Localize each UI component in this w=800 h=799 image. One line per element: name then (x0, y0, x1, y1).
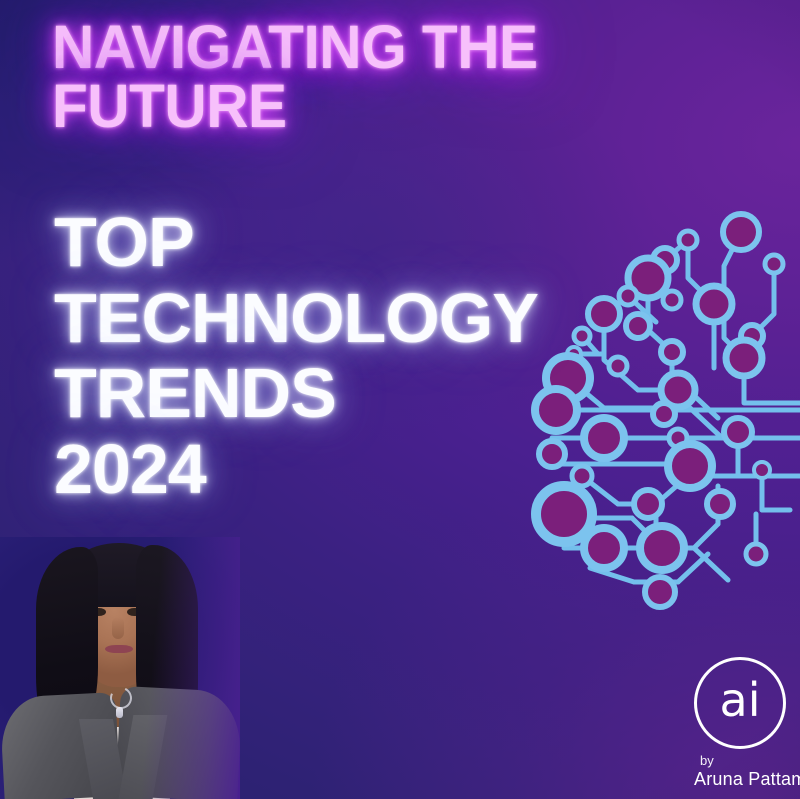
title-line-3: TRENDS (54, 356, 614, 432)
brand-logo: ai by Aruna Pattam (694, 657, 786, 790)
title-line-4: 2024 (54, 432, 614, 508)
ai-logo-icon: ai (694, 657, 786, 749)
logo-author-name: Aruna Pattam (694, 769, 786, 790)
portrait-edge-fade (0, 537, 240, 799)
eyebrow-line-1: NAVIGATING THE (52, 13, 538, 81)
logo-by-label: by (694, 753, 786, 768)
poster-canvas: NAVIGATING THE FUTURE TOP TECHNOLOGY TRE… (0, 0, 800, 799)
title-line-1: TOP (54, 205, 614, 281)
main-title: TOP TECHNOLOGY TRENDS 2024 (54, 205, 614, 507)
eyebrow-heading: NAVIGATING THE FUTURE (52, 18, 590, 136)
ai-logo-text: ai (720, 677, 761, 723)
aruna-pattam-portrait (0, 537, 240, 799)
eyebrow-line-2: FUTURE (52, 77, 590, 136)
title-line-2: TECHNOLOGY (54, 281, 614, 357)
